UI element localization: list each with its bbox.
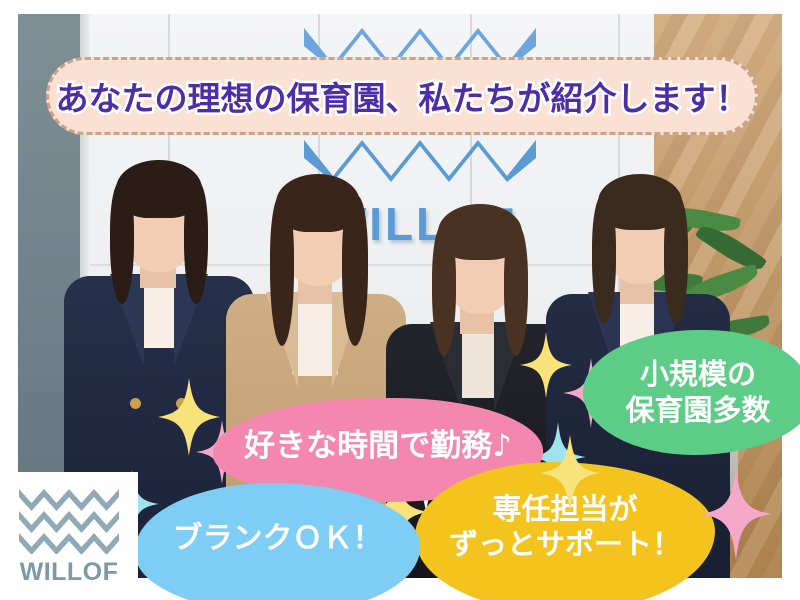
bubble-work-hours-text: 好きな時間で勤務♪	[244, 428, 512, 466]
willof-logo-card: WILLOF	[0, 472, 138, 600]
bubble-blank-ok-text: ブランクＯＫ！	[173, 521, 383, 558]
promo-banner-image: WILLOF	[0, 0, 800, 600]
bubble-small-nursery-line2: 保育園多数	[625, 393, 770, 428]
bubble-dedicated-support[interactable]: 専任担当が ずっとサポート！	[415, 462, 715, 600]
headline-text: あなたの理想の保育園、私たちが紹介します！	[56, 72, 749, 120]
willof-zigzag-icon	[19, 486, 119, 554]
bubble-small-nursery-line1: 小規模の	[625, 357, 770, 392]
willof-logo-text: WILLOF	[20, 558, 119, 587]
bubble-dedicated-support-line2: ずっとサポート！	[449, 527, 681, 562]
bubble-small-nursery[interactable]: 小規模の 保育園多数	[583, 330, 800, 455]
headline-banner: あなたの理想の保育園、私たちが紹介します！	[46, 57, 758, 135]
bubble-dedicated-support-line1: 専任担当が	[449, 492, 681, 527]
